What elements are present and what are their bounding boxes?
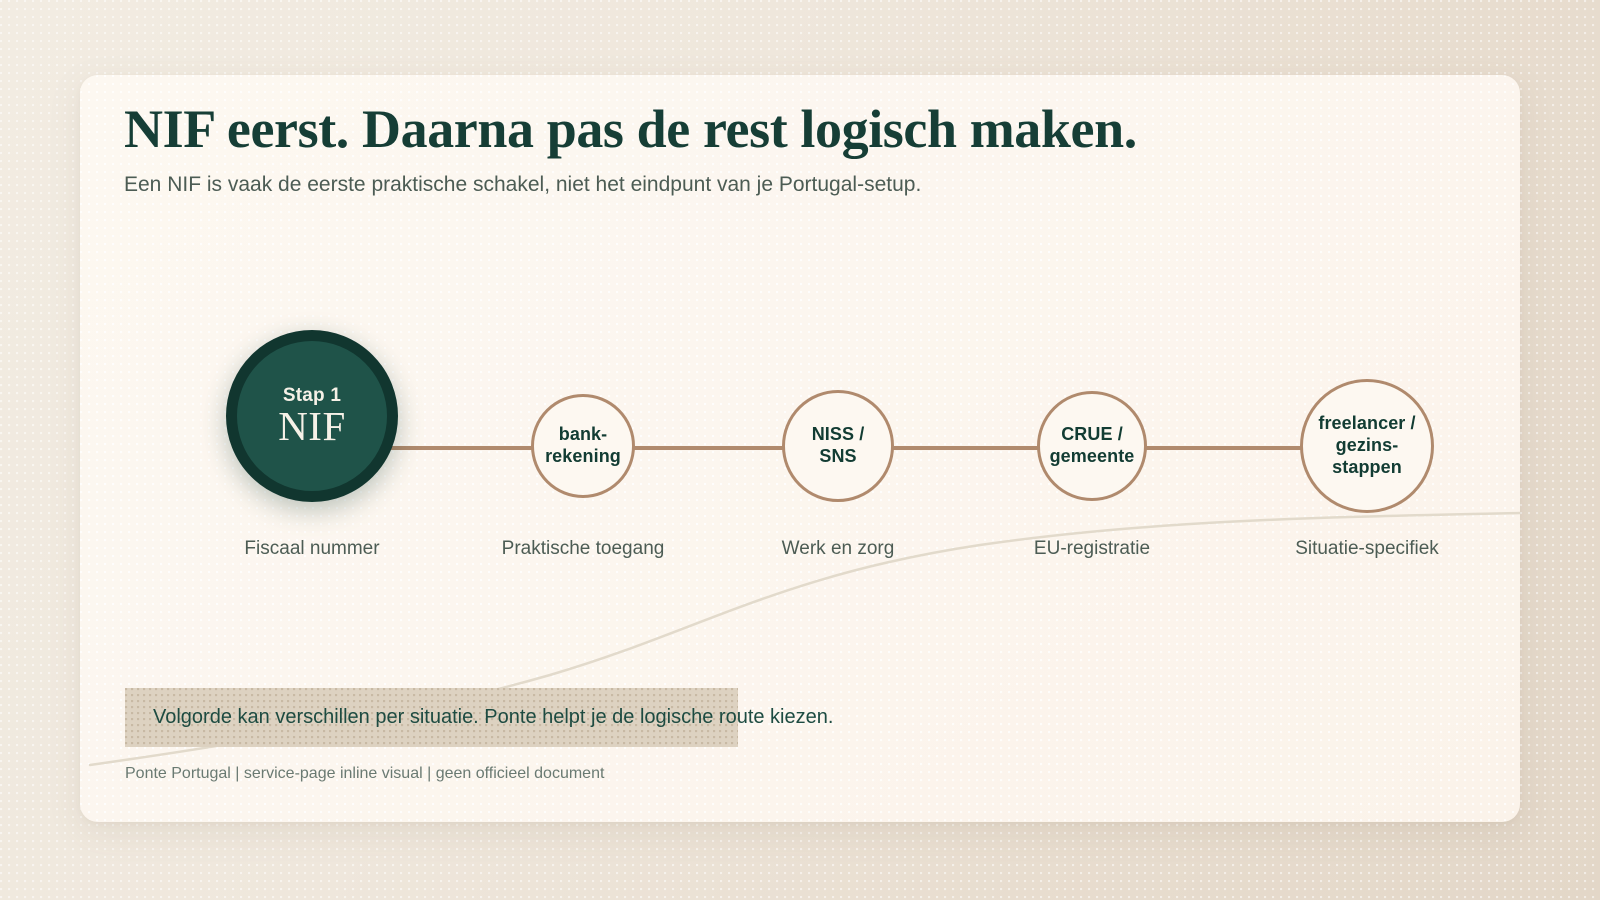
flow-caption-freelancer-gezin: Situatie-specifiek bbox=[1295, 538, 1439, 560]
flow-node-niss-sns-label: NISS / SNS bbox=[806, 424, 871, 468]
flow-node-bankrekening-line-1: bank- bbox=[559, 424, 608, 444]
flow-node-freelancer-gezin[interactable]: freelancer / gezins- stappen bbox=[1300, 379, 1434, 513]
flow-caption-nif: Fiscaal nummer bbox=[244, 538, 379, 560]
flow-node-freelancer-gezin-line-3: stappen bbox=[1332, 457, 1402, 477]
page-title: NIF eerst. Daarna pas de rest logisch ma… bbox=[124, 99, 1464, 159]
flow-node-niss-sns-line-2: SNS bbox=[819, 446, 856, 466]
flow-node-bankrekening-label: bank- rekening bbox=[539, 424, 627, 468]
page-subtitle: Een NIF is vaak de eerste praktische sch… bbox=[124, 171, 1464, 198]
flow-node-crue-gemeente[interactable]: CRUE / gemeente bbox=[1037, 391, 1147, 501]
flow-caption-niss-sns: Werk en zorg bbox=[782, 538, 895, 560]
flow-node-niss-sns-line-1: NISS / bbox=[812, 424, 865, 444]
note-banner: Volgorde kan verschillen per situatie. P… bbox=[125, 688, 738, 747]
flow-node-niss-sns[interactable]: NISS / SNS bbox=[782, 390, 894, 502]
flow-node-freelancer-gezin-line-2: gezins- bbox=[1336, 435, 1399, 455]
flow-node-bankrekening-line-2: rekening bbox=[545, 446, 621, 466]
flow-caption-bankrekening: Praktische toegang bbox=[502, 538, 665, 560]
flow-node-freelancer-gezin-label: freelancer / gezins- stappen bbox=[1312, 413, 1421, 479]
flow-node-nif-label: Stap 1 NIF bbox=[272, 384, 352, 448]
page-root: NIF eerst. Daarna pas de rest logisch ma… bbox=[0, 0, 1600, 900]
flow-node-crue-gemeente-line-1: CRUE / bbox=[1061, 424, 1123, 444]
note-banner-text: Volgorde kan verschillen per situatie. P… bbox=[153, 706, 833, 729]
flow-caption-crue-gemeente: EU-registratie bbox=[1034, 538, 1150, 560]
flow-node-crue-gemeente-line-2: gemeente bbox=[1050, 446, 1135, 466]
flow-node-crue-gemeente-label: CRUE / gemeente bbox=[1044, 424, 1141, 468]
flow-node-nif-main: NIF bbox=[278, 405, 346, 448]
card-header: NIF eerst. Daarna pas de rest logisch ma… bbox=[124, 99, 1464, 199]
flow-node-bankrekening[interactable]: bank- rekening bbox=[531, 394, 635, 498]
flow-node-freelancer-gezin-line-1: freelancer / bbox=[1318, 413, 1415, 433]
card-footer: Ponte Portugal | service-page inline vis… bbox=[125, 765, 604, 783]
flow-node-nif[interactable]: Stap 1 NIF bbox=[226, 330, 398, 502]
flow-diagram: Stap 1 NIF bank- rekening NISS / SNS bbox=[80, 330, 1520, 630]
visual-card: NIF eerst. Daarna pas de rest logisch ma… bbox=[80, 75, 1520, 822]
